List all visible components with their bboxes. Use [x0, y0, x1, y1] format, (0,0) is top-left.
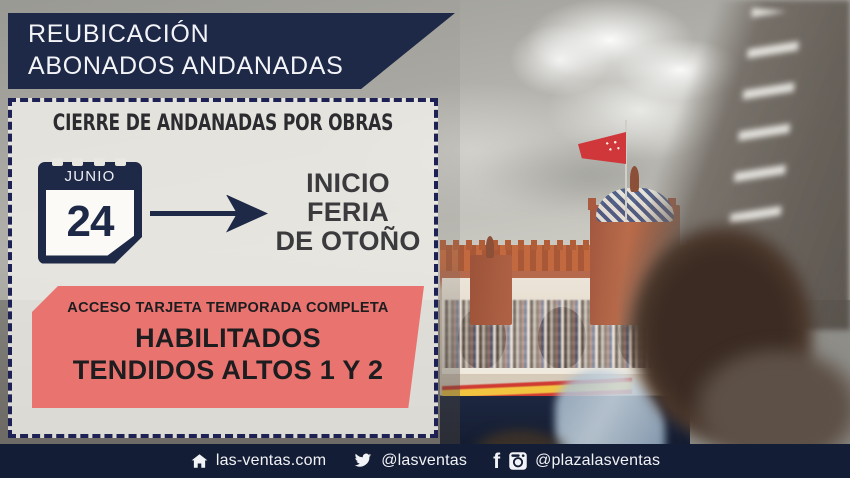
- tower-finial-small: [486, 236, 494, 258]
- calendar-ring-1: [52, 158, 63, 166]
- twitter-bird-icon: [352, 452, 374, 470]
- poster-canvas: REUBICACIÓN ABONADOS ANDANADAS CIERRE DE…: [0, 0, 850, 478]
- foreground-spectator-shoulder: [690, 330, 850, 460]
- event-name-line-2: FERIA: [268, 198, 428, 227]
- brick-tower-small: [470, 255, 512, 325]
- arrow-shaft: [150, 211, 242, 216]
- website-label: las-ventas.com: [216, 452, 326, 470]
- footer-twitter[interactable]: @lasventas: [352, 452, 467, 470]
- instagram-handle: @plazalasventas: [535, 452, 660, 470]
- date-to-event-row: JUNIO 24 INICIO FERIA DE OTOÑO: [12, 150, 434, 275]
- twitter-handle: @lasventas: [381, 452, 467, 470]
- instagram-camera-icon[interactable]: [508, 451, 528, 471]
- event-name-line-1: INICIO: [268, 169, 428, 198]
- highlight-line-1: HABILITADOS: [32, 323, 424, 354]
- arrow-right-icon: [150, 193, 268, 233]
- calendar-day-number: 24: [67, 200, 114, 244]
- calendar-icon: JUNIO 24: [38, 162, 142, 264]
- footer-social[interactable]: f @plazalasventas: [493, 451, 660, 472]
- panel-title: CIERRE DE ANDANADAS POR OBRAS: [42, 111, 405, 136]
- banner-title-line-1: REUBICACIÓN: [28, 19, 455, 51]
- calendar-ring-4: [115, 158, 126, 166]
- highlight-line-2: TENDIDOS ALTOS 1 Y 2: [32, 355, 424, 386]
- highlight-box: ACCESO TARJETA TEMPORADA COMPLETA HABILI…: [32, 286, 424, 408]
- info-panel: CIERRE DE ANDANADAS POR OBRAS JUNIO 24: [8, 98, 438, 438]
- footer-bar: las-ventas.com @lasventas f @plazalasven…: [0, 444, 850, 478]
- footer-website[interactable]: las-ventas.com: [190, 452, 326, 470]
- highlight-kicker: ACCESO TARJETA TEMPORADA COMPLETA: [32, 300, 424, 316]
- event-name: INICIO FERIA DE OTOÑO: [268, 169, 434, 256]
- facebook-f-icon[interactable]: f: [493, 451, 501, 472]
- calendar-ring-3: [94, 158, 105, 166]
- home-icon: [190, 452, 209, 470]
- calendar-month-label: JUNIO: [38, 168, 142, 185]
- event-name-line-3: DE OTOÑO: [268, 227, 428, 256]
- calendar-ring-2: [72, 158, 83, 166]
